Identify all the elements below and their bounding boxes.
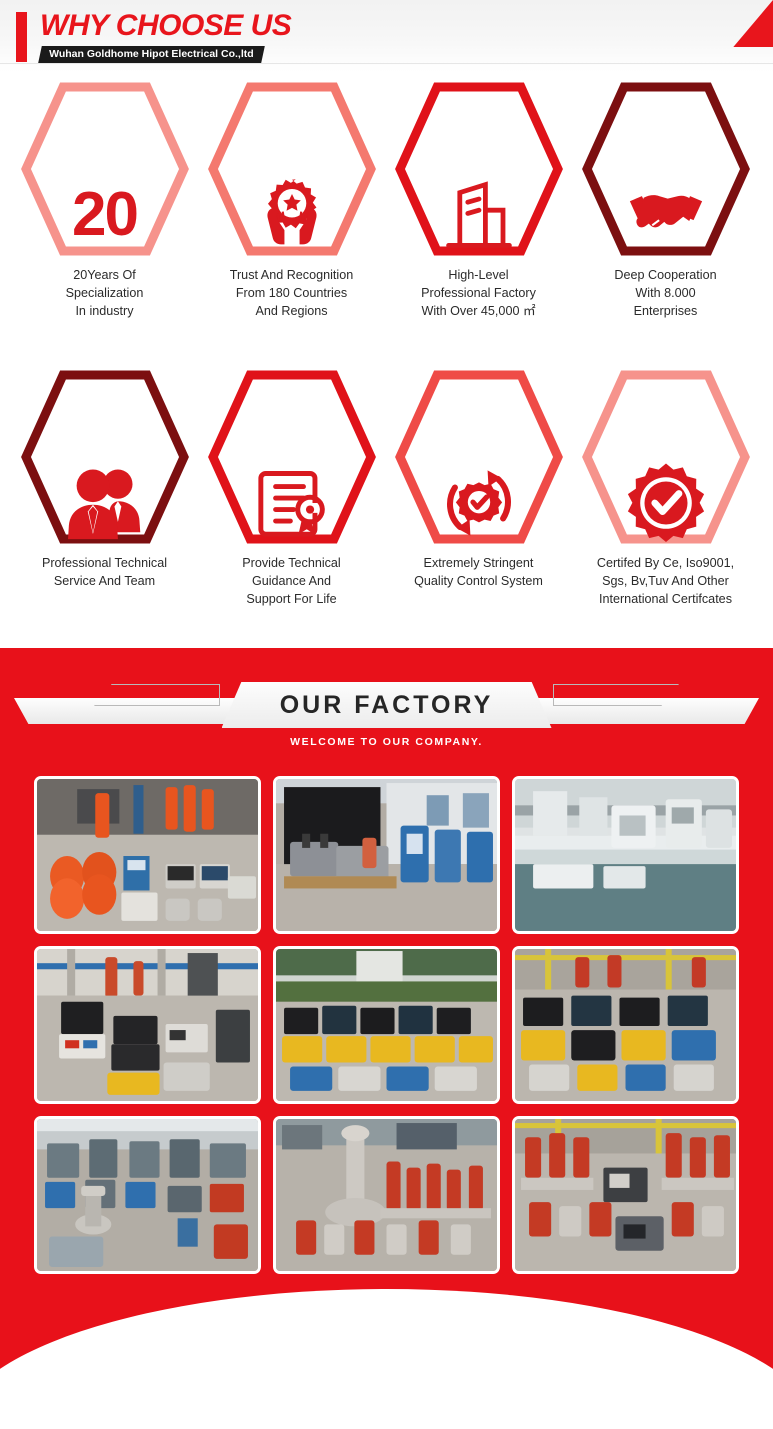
feature-item-factory: High-Level Professional Factory With Ove… [382, 80, 575, 350]
factory-photo[interactable] [34, 1116, 261, 1274]
feature-label: Extremely Stringent Quality Control Syst… [374, 554, 583, 590]
why-choose-us-page: WHY CHOOSE US Wuhan Goldhome Hipot Elect… [0, 0, 773, 1429]
header-accent-bar [16, 12, 27, 62]
factory-subtitle: WELCOME TO OUR COMPANY. [0, 736, 773, 748]
header-divider [0, 63, 773, 64]
feature-item-cooperation: Deep Cooperation With 8.000 Enterprises [569, 80, 762, 350]
feature-item-trust: Trust And Recognition From 180 Countries… [195, 80, 388, 350]
factory-photo[interactable] [34, 946, 261, 1104]
gear-check-cycle-icon [436, 460, 522, 546]
our-factory-section: OUR FACTORY WELCOME TO OUR COMPANY. [0, 648, 773, 1429]
feature-item-certificates: Certifed By Ce, Iso9001, Sgs, Bv,Tuv And… [569, 368, 762, 638]
factory-title: OUR FACTORY [280, 691, 494, 720]
factory-photo[interactable] [512, 946, 739, 1104]
features-section: 20 20Years Of Specialization In industry [0, 72, 773, 648]
years-number: 20 [72, 184, 137, 246]
feature-label: Deep Cooperation With 8.000 Enterprises [561, 266, 770, 320]
feature-label: Certifed By Ce, Iso9001, Sgs, Bv,Tuv And… [561, 554, 770, 608]
factory-banner: OUR FACTORY WELCOME TO OUR COMPANY. [0, 674, 773, 764]
company-name-banner: Wuhan Goldhome Hipot Electrical Co.,ltd [38, 46, 264, 63]
banner-outline-left [94, 684, 220, 706]
certificate-icon [249, 460, 335, 546]
feature-item-quality-control: Extremely Stringent Quality Control Syst… [382, 368, 575, 638]
feature-label: Trust And Recognition From 180 Countries… [187, 266, 396, 320]
bottom-curve-decoration [0, 1289, 773, 1429]
company-name-label: Wuhan Goldhome Hipot Electrical Co.,ltd [49, 48, 254, 60]
features-row-1: 20 20Years Of Specialization In industry [0, 80, 773, 350]
banner-plate: OUR FACTORY [222, 682, 552, 728]
number-20-icon: 20 [62, 172, 148, 258]
factory-photo[interactable] [34, 776, 261, 934]
feature-label: High-Level Professional Factory With Ove… [374, 266, 583, 320]
page-header: WHY CHOOSE US Wuhan Goldhome Hipot Elect… [0, 0, 773, 72]
feature-label: Provide Technical Guidance And Support F… [187, 554, 396, 608]
factory-photo[interactable] [273, 776, 500, 934]
team-people-icon [62, 460, 148, 546]
factory-photo[interactable] [273, 1116, 500, 1274]
header-flag-shape [711, 0, 773, 47]
feature-item-guidance: Provide Technical Guidance And Support F… [195, 368, 388, 638]
page-title: WHY CHOOSE US [40, 9, 291, 43]
factory-photo-grid [34, 776, 739, 1274]
feature-label: Professional Technical Service And Team [0, 554, 209, 590]
banner-outline-right [553, 684, 679, 706]
feature-label: 20Years Of Specialization In industry [0, 266, 209, 320]
feature-item-20-years: 20 20Years Of Specialization In industry [8, 80, 201, 350]
handshake-icon [623, 172, 709, 258]
hands-award-icon [249, 172, 335, 258]
factory-photo[interactable] [512, 776, 739, 934]
badge-check-icon [623, 460, 709, 546]
features-row-2: Professional Technical Service And Team … [0, 368, 773, 638]
factory-photo[interactable] [512, 1116, 739, 1274]
factory-photo[interactable] [273, 946, 500, 1104]
factory-building-icon [436, 172, 522, 258]
feature-item-technical-service: Professional Technical Service And Team [8, 368, 201, 638]
